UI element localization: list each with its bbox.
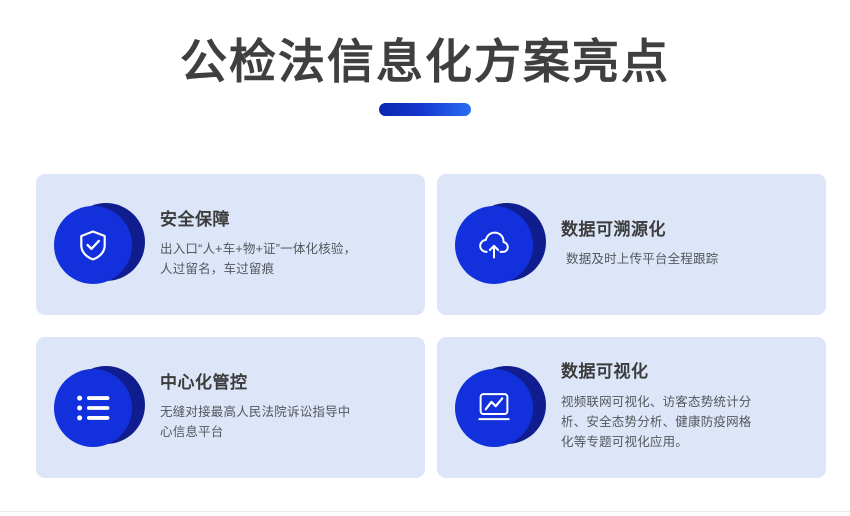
icon-main-disc bbox=[54, 369, 132, 447]
icon-badge bbox=[451, 361, 545, 455]
icon-badge bbox=[50, 361, 144, 455]
footer-divider bbox=[0, 511, 850, 512]
chart-monitor-icon bbox=[475, 390, 513, 425]
card-title: 中心化管控 bbox=[160, 373, 411, 393]
feature-card-grid: 安全保障 出入口“人+车+物+证”一体化核验，人过留名，车过留痕 bbox=[36, 174, 826, 478]
bullet-list-icon bbox=[74, 392, 112, 424]
card-title: 安全保障 bbox=[160, 210, 411, 230]
feature-card-security[interactable]: 安全保障 出入口“人+车+物+证”一体化核验，人过留名，车过留痕 bbox=[36, 174, 425, 315]
title-underline-wrap bbox=[0, 103, 850, 116]
card-description: 无缝对接最高人民法院诉讼指导中心信息平台 bbox=[160, 402, 360, 443]
card-text: 数据可视化 视频联网可视化、访客态势统计分析、安全态势分析、健康防疫网格化等专题… bbox=[557, 362, 812, 452]
card-description: 出入口“人+车+物+证”一体化核验，人过留名，车过留痕 bbox=[160, 239, 360, 280]
page-root: 公检法信息化方案亮点 安全保障 出入口“ bbox=[0, 0, 850, 516]
title-underline-bar bbox=[379, 103, 471, 116]
card-title: 数据可视化 bbox=[561, 362, 812, 382]
shield-check-icon bbox=[75, 227, 111, 263]
card-title: 数据可溯源化 bbox=[561, 220, 812, 240]
feature-card-visualization[interactable]: 数据可视化 视频联网可视化、访客态势统计分析、安全态势分析、健康防疫网格化等专题… bbox=[437, 337, 826, 478]
card-text: 安全保障 出入口“人+车+物+证”一体化核验，人过留名，车过留痕 bbox=[156, 210, 411, 280]
feature-card-centralized-control[interactable]: 中心化管控 无缝对接最高人民法院诉讼指导中心信息平台 bbox=[36, 337, 425, 478]
icon-badge bbox=[50, 198, 144, 292]
card-text: 中心化管控 无缝对接最高人民法院诉讼指导中心信息平台 bbox=[156, 373, 411, 443]
icon-main-disc bbox=[54, 206, 132, 284]
feature-card-traceability[interactable]: 数据可溯源化 数据及时上传平台全程跟踪 bbox=[437, 174, 826, 315]
page-title: 公检法信息化方案亮点 bbox=[0, 34, 850, 89]
cloud-upload-icon bbox=[475, 226, 513, 264]
icon-main-disc bbox=[455, 369, 533, 447]
card-text: 数据可溯源化 数据及时上传平台全程跟踪 bbox=[557, 220, 812, 270]
card-description: 视频联网可视化、访客态势统计分析、安全态势分析、健康防疫网格化等专题可视化应用。 bbox=[561, 392, 757, 453]
icon-badge bbox=[451, 198, 545, 292]
page-header: 公检法信息化方案亮点 bbox=[0, 0, 850, 116]
icon-main-disc bbox=[455, 206, 533, 284]
card-description: 数据及时上传平台全程跟踪 bbox=[561, 249, 786, 269]
